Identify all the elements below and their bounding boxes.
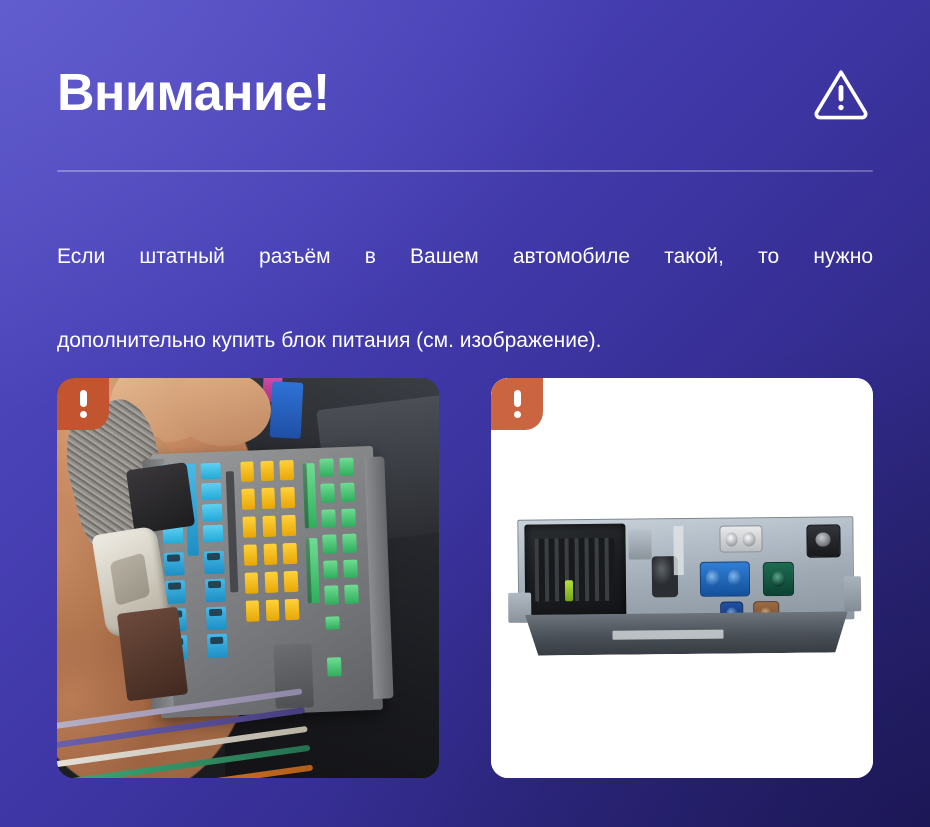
exclamation-glyph <box>514 390 521 418</box>
connector-photo <box>57 378 439 778</box>
exclamation-badge-icon <box>491 378 543 430</box>
multi-pin-connector <box>524 524 626 620</box>
power-supply-photo-card[interactable] <box>491 378 873 778</box>
header-divider <box>57 170 873 172</box>
fakra-white-connector <box>719 525 763 553</box>
fakra-black-connector <box>806 525 840 558</box>
page-title: Внимание! <box>57 67 330 119</box>
power-supply-unit <box>517 516 855 656</box>
fakra-blue-connector <box>699 561 750 597</box>
exclamation-glyph <box>80 390 87 418</box>
header: Внимание! <box>57 52 873 134</box>
notice-paragraph: Если штатный разъём в Вашем автомобиле т… <box>57 236 873 362</box>
notice-line-2: дополнительно купить блок питания (см. и… <box>57 320 873 362</box>
photo-card-row <box>57 378 873 778</box>
exclamation-badge-icon <box>57 378 109 430</box>
warning-triangle-icon <box>813 65 869 121</box>
power-supply-photo <box>491 378 873 778</box>
fakra-green-connector <box>763 562 794 596</box>
connector-photo-card[interactable] <box>57 378 439 778</box>
notice-line-1: Если штатный разъём в Вашем автомобиле т… <box>57 236 873 320</box>
